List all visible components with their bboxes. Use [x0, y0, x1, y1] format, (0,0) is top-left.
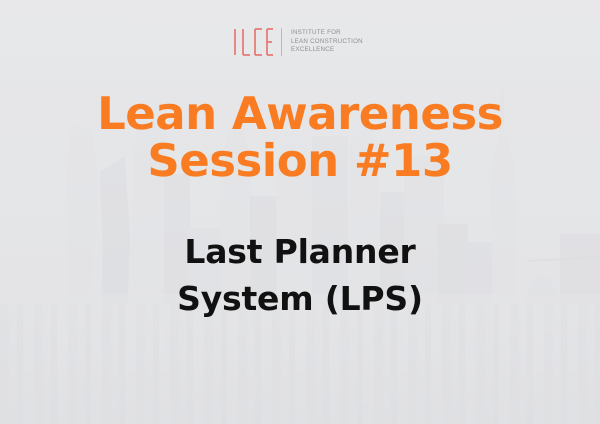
headline-line-2: Session #13 [97, 137, 503, 184]
logo-line-3: EXCELLENCE [291, 46, 363, 54]
logo-wordmark: INSTITUTE FOR LEAN CONSTRUCTION EXCELLEN… [291, 29, 363, 54]
logo-line-1: INSTITUTE FOR [291, 29, 363, 37]
ilce-monogram-icon [233, 28, 273, 56]
ilce-logo: INSTITUTE FOR LEAN CONSTRUCTION EXCELLEN… [233, 26, 367, 58]
slide-headline: Lean Awareness Session #13 [97, 90, 503, 184]
logo-divider [281, 28, 282, 56]
logo-line-2: LEAN CONSTRUCTION [291, 38, 363, 46]
headline-line-1: Lean Awareness [97, 90, 503, 137]
slide-content: INSTITUTE FOR LEAN CONSTRUCTION EXCELLEN… [0, 0, 600, 424]
subtitle-line-2: System (LPS) [177, 275, 423, 322]
presentation-slide: INSTITUTE FOR LEAN CONSTRUCTION EXCELLEN… [0, 0, 600, 424]
subtitle-line-1: Last Planner [177, 228, 423, 275]
slide-subtitle: Last Planner System (LPS) [177, 228, 423, 322]
